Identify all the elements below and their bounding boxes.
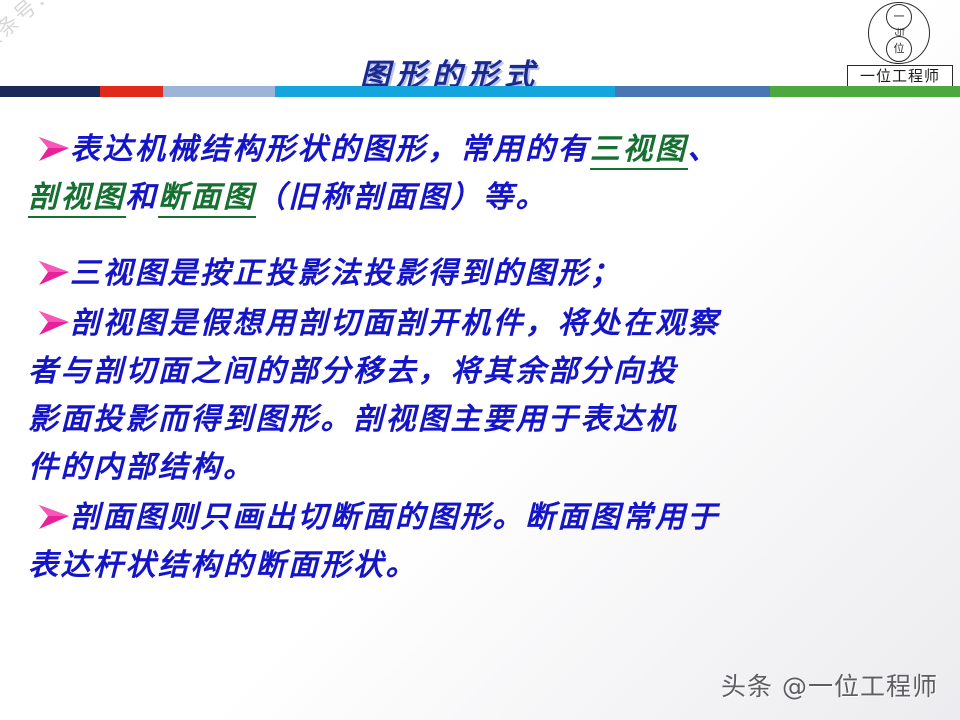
line: 剖视图是假想用剖切面剖开机件，将处在观察 — [28, 300, 940, 348]
text-run: 三视图是按正投影法投影得到的图形； — [70, 256, 623, 291]
body-content: 表达机械结构形状的图形，常用的有三视图、 剖视图和断面图（旧称剖面图）等。 三视… — [28, 126, 940, 590]
text-run: 表达机械结构形状的图形，常用的有 — [70, 132, 590, 167]
divider-segment-steel-blue — [615, 86, 770, 97]
highlighted-term: 剖视图 — [28, 180, 126, 218]
bullet-sectional-drawing: 剖面图则只画出切断面的图形。断面图常用于 表达杆状结构的断面形状。 — [28, 494, 940, 590]
diagonal-watermark: 头条号：一位工程师 — [0, 0, 158, 59]
line: 三视图是按正投影法投影得到的图形； — [28, 250, 940, 298]
text-run: 剖面图则只画出切断面的图形。断面图常用于 — [70, 500, 720, 535]
footer-watermark: 头条 @一位工程师 — [721, 672, 938, 702]
line: 表达杆状结构的断面形状。 — [28, 542, 940, 590]
divider-segment-red — [100, 86, 163, 97]
text-run: （旧称剖面图）等。 — [256, 180, 549, 215]
title-row: 图形的形式 — [0, 58, 960, 104]
text-run: 和 — [126, 180, 159, 215]
line: 剖面图则只画出切断面的图形。断面图常用于 — [28, 494, 940, 542]
divider-bar — [0, 86, 960, 97]
highlighted-term: 三视图 — [590, 132, 688, 170]
text-run: 影面投影而得到图形。剖视图主要用于表达机 — [28, 402, 678, 437]
line: 表达机械结构形状的图形，常用的有三视图、 — [28, 126, 940, 174]
divider-segment-navy — [0, 86, 100, 97]
slide: 头条号：一位工程师 一 与 位 一位工程师 图形的形式 表达机械结构形状的图形，… — [0, 0, 960, 720]
divider-segment-light-steel — [163, 86, 275, 97]
highlighted-term: 断面图 — [158, 180, 256, 218]
text-run: 、 — [688, 132, 721, 167]
divider-segment-green — [770, 86, 960, 97]
divider-segment-cyan — [275, 86, 615, 97]
bullet-graphic-forms: 表达机械结构形状的图形，常用的有三视图、 剖视图和断面图（旧称剖面图）等。 — [28, 126, 940, 222]
line: 影面投影而得到图形。剖视图主要用于表达机 — [28, 396, 940, 444]
text-run: 表达杆状结构的断面形状。 — [28, 548, 418, 583]
text-run: 剖视图是假想用剖切面剖开机件，将处在观察 — [70, 306, 720, 341]
text-run: 者与剖切面之间的部分移去，将其余部分向投 — [28, 354, 678, 389]
logo-mark-icon: 一 与 位 — [868, 2, 932, 64]
bullet-three-views: 三视图是按正投影法投影得到的图形； — [28, 250, 940, 298]
line: 件的内部结构。 — [28, 444, 940, 492]
text-run: 件的内部结构。 — [28, 450, 256, 485]
bullet-section-view: 剖视图是假想用剖切面剖开机件，将处在观察 者与剖切面之间的部分移去，将其余部分向… — [28, 300, 940, 492]
line: 者与剖切面之间的部分移去，将其余部分向投 — [28, 348, 940, 396]
line: 剖视图和断面图（旧称剖面图）等。 — [28, 174, 940, 222]
